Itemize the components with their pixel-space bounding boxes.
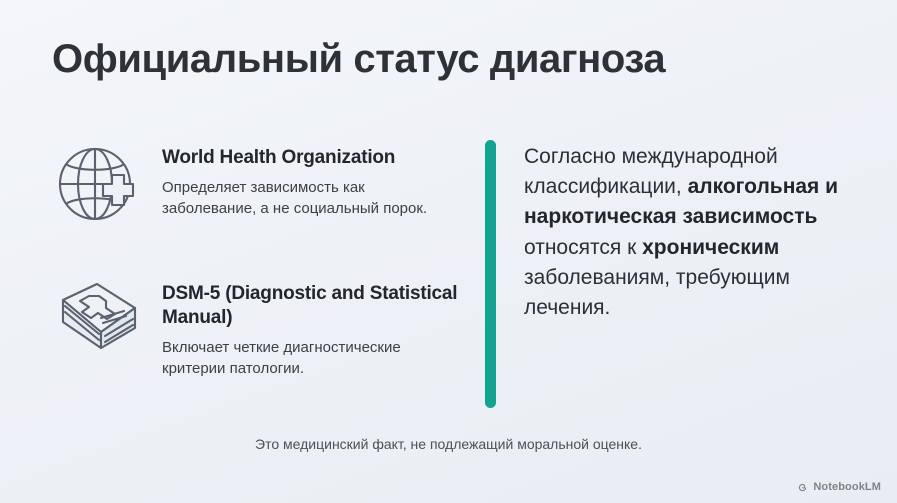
list-item: DSM-5 (Diagnostic and Statistical Manual…	[52, 274, 462, 379]
watermark-label: NotebookLM	[813, 481, 881, 493]
accent-bar	[485, 140, 496, 408]
feature-description: Определяет зависимость как заболевание, …	[162, 177, 462, 220]
quote-text: Согласно международной классификации, ал…	[524, 140, 860, 408]
feature-text-block: World Health Organization Определяет зав…	[162, 138, 462, 219]
globe-medical-cross-icon	[52, 138, 144, 230]
quote-emphasis: хроническим	[642, 236, 779, 259]
slide-root: Официальный статус диагноза World Health…	[0, 0, 897, 503]
notebooklm-watermark: NotebookLM	[797, 481, 881, 493]
quote-run: относятся к	[524, 236, 642, 259]
quote-run: заболеваниям, требующим лечения.	[524, 266, 790, 319]
list-item: World Health Organization Определяет зав…	[52, 138, 462, 230]
feature-title: World Health Organization	[162, 146, 462, 170]
feature-description: Включает четкие диагностические критерии…	[162, 337, 462, 380]
feature-list: World Health Organization Определяет зав…	[52, 138, 462, 379]
medical-book-icon	[52, 274, 144, 366]
footer-note: Это медицинский факт, не подлежащий мора…	[0, 436, 897, 452]
feature-title: DSM-5 (Diagnostic and Statistical Manual…	[162, 282, 462, 330]
notebooklm-spiral-icon	[797, 482, 808, 493]
feature-text-block: DSM-5 (Diagnostic and Statistical Manual…	[162, 274, 462, 379]
page-title: Официальный статус диагноза	[52, 36, 665, 82]
quote-panel: Согласно международной классификации, ал…	[485, 140, 860, 408]
